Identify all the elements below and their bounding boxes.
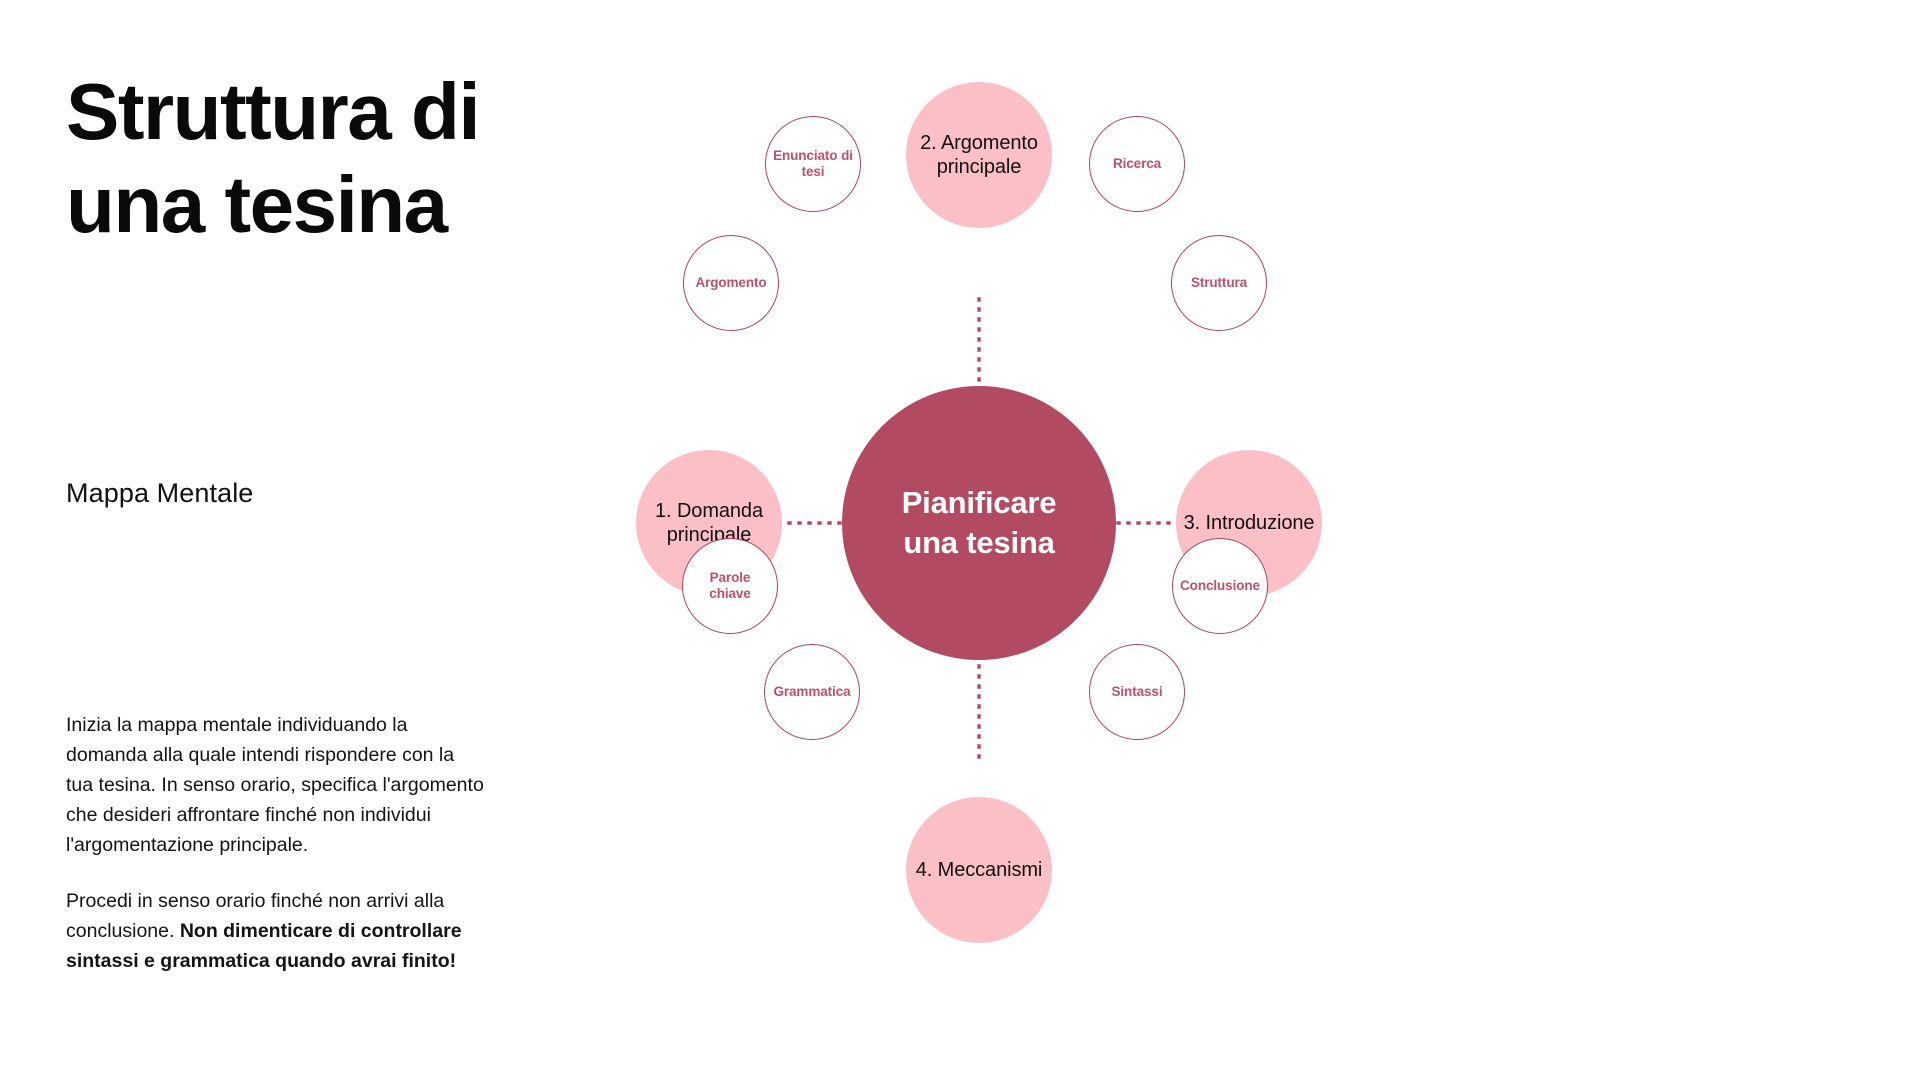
label-line2: chiave xyxy=(709,586,750,601)
label-line1: Ricerca xyxy=(1113,156,1161,171)
instructions-text: Inizia la mappa mentale individuando la … xyxy=(66,710,486,976)
mindmap-center-node[interactable]: Pianificare una tesina xyxy=(842,386,1116,660)
mindmap-node-argomento-principale-label: 2. Argomento principale xyxy=(920,131,1038,180)
mindmap-node-struttura-label: Struttura xyxy=(1191,275,1247,291)
label-line1: Parole xyxy=(710,570,751,585)
mindmap-node-grammatica-label: Grammatica xyxy=(773,684,850,700)
mindmap-node-parole-chiave[interactable]: Parole chiave xyxy=(682,538,778,634)
label-line1: 2. Argomento xyxy=(920,132,1038,154)
mindmap-center-label-line2: una tesina xyxy=(903,525,1054,560)
mindmap-node-argomento-label: Argomento xyxy=(695,275,766,291)
mindmap-node-introduzione-label: 3. Introduzione xyxy=(1184,511,1315,535)
label-line1: Grammatica xyxy=(773,684,850,699)
label-line1: Enunciato di xyxy=(773,148,853,163)
label-line2: tesi xyxy=(802,164,825,179)
mindmap-node-conclusione[interactable]: Conclusione xyxy=(1172,538,1268,634)
page-subtitle: Mappa Mentale xyxy=(66,478,253,509)
label-line1: 4. Meccanismi xyxy=(916,859,1043,881)
mindmap-center-label: Pianificare una tesina xyxy=(902,483,1057,564)
mindmap-node-parole-chiave-label: Parole chiave xyxy=(709,570,750,602)
left-text-column: Struttura di una tesina Mappa Mentale In… xyxy=(66,0,536,1072)
mindmap-node-argomento-principale[interactable]: 2. Argomento principale xyxy=(906,82,1052,228)
mindmap-node-grammatica[interactable]: Grammatica xyxy=(764,644,860,740)
page-title: Struttura di una tesina xyxy=(66,66,506,252)
label-line2: principale xyxy=(937,156,1022,178)
label-line1: Struttura xyxy=(1191,275,1247,290)
mindmap-center-label-line1: Pianificare xyxy=(902,485,1057,520)
label-line1: 1. Domanda xyxy=(655,500,763,522)
mindmap-node-enunciato-di-tesi[interactable]: Enunciato di tesi xyxy=(765,116,861,212)
mindmap-node-struttura[interactable]: Struttura xyxy=(1171,235,1267,331)
mindmap-node-ricerca[interactable]: Ricerca xyxy=(1089,116,1185,212)
mindmap-node-argomento[interactable]: Argomento xyxy=(683,235,779,331)
label-line1: Conclusione xyxy=(1180,578,1260,593)
mindmap-node-enunciato-di-tesi-label: Enunciato di tesi xyxy=(773,148,853,180)
slide-canvas: Struttura di una tesina Mappa Mentale In… xyxy=(0,0,1906,1072)
mindmap-node-sintassi[interactable]: Sintassi xyxy=(1089,644,1185,740)
mindmap-node-ricerca-label: Ricerca xyxy=(1113,156,1161,172)
mindmap-node-conclusione-label: Conclusione xyxy=(1180,578,1260,594)
instructions-paragraph-1: Inizia la mappa mentale individuando la … xyxy=(66,710,486,860)
instructions-paragraph-2: Procedi in senso orario finché non arriv… xyxy=(66,886,486,976)
mindmap-node-meccanismi-label: 4. Meccanismi xyxy=(916,858,1043,882)
mindmap-node-meccanismi[interactable]: 4. Meccanismi xyxy=(906,797,1052,943)
label-line1: Sintassi xyxy=(1112,684,1163,699)
label-line1: Argomento xyxy=(695,275,766,290)
label-line1: 3. Introduzione xyxy=(1184,512,1315,534)
mind-map: Pianificare una tesina 1. Domanda princi… xyxy=(700,0,1906,1072)
mindmap-node-sintassi-label: Sintassi xyxy=(1112,684,1163,700)
